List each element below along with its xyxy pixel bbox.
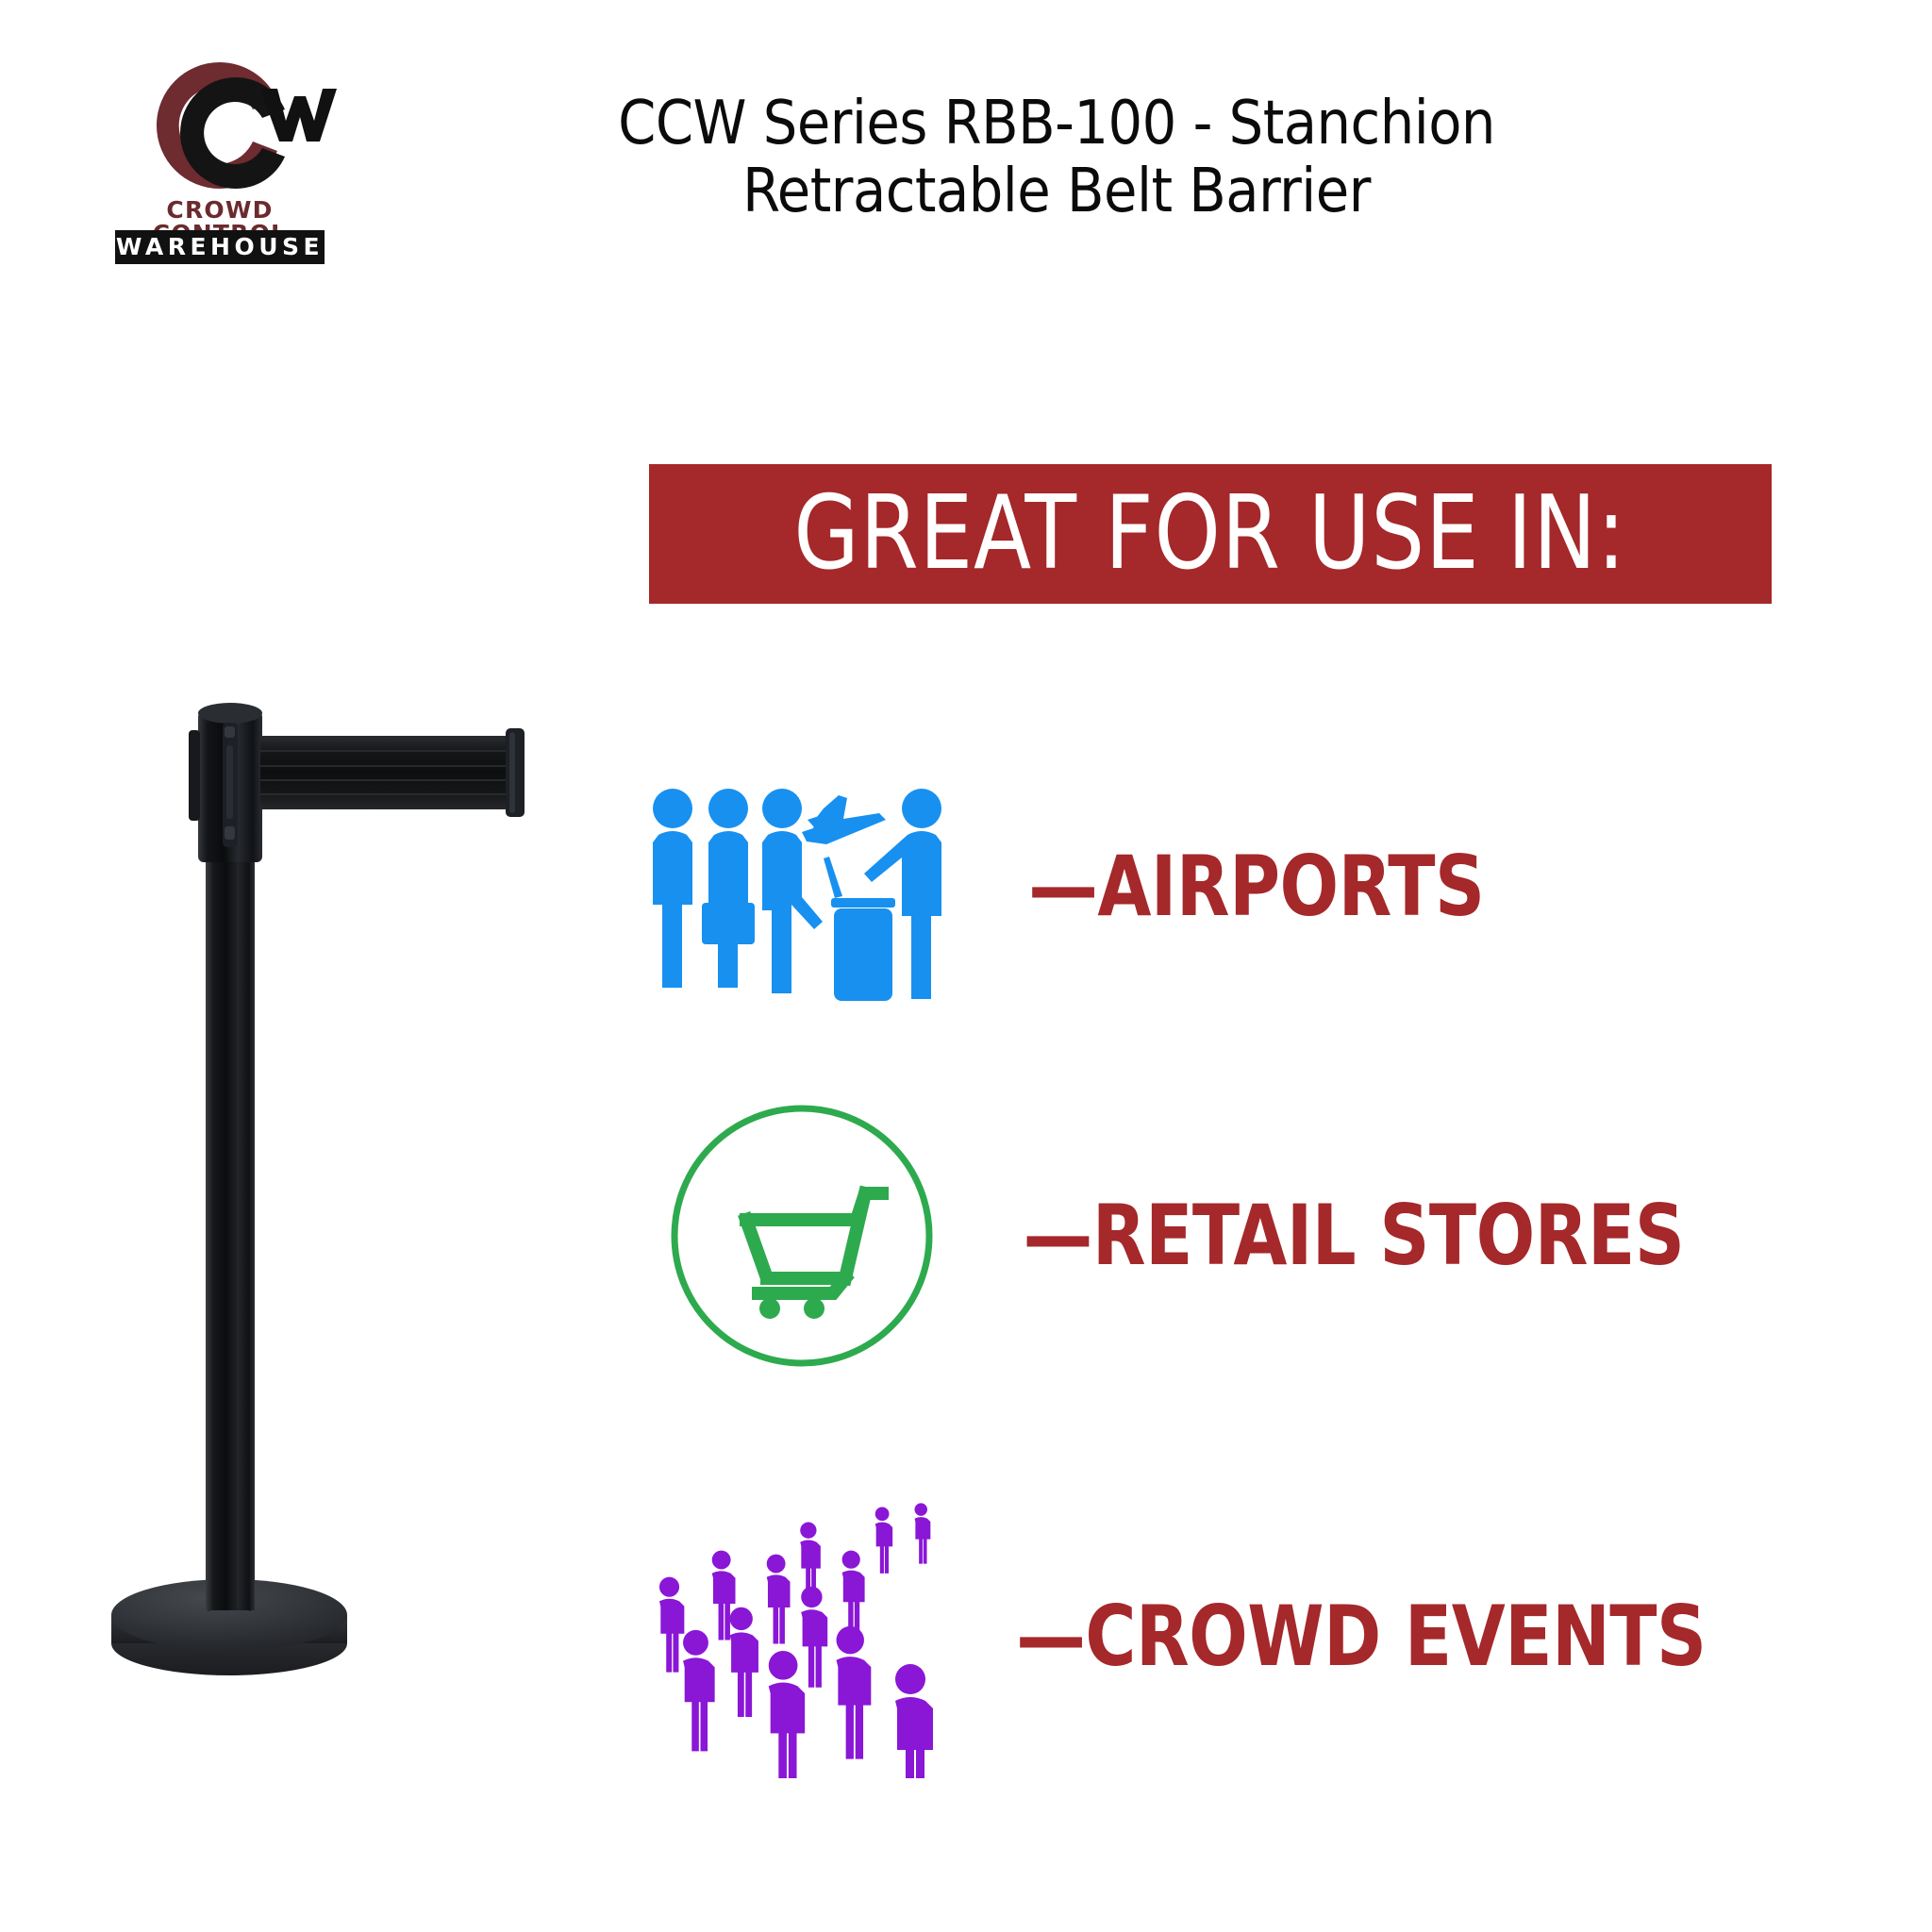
great-for-use-in-banner: GREAT FOR USE IN:: [649, 464, 1772, 604]
feature-label-airports: —AIRPORTS: [981, 845, 1815, 928]
feature-label-crowd-events: —CROWD EVENTS: [981, 1595, 1815, 1678]
logo-warehouse-bar: WAREHOUSE: [115, 230, 325, 264]
product-image: [104, 689, 594, 1698]
logo-name-line2: WAREHOUSE: [115, 230, 325, 264]
airport-queue-icon: [623, 763, 981, 1010]
feature-label-retail-stores: —RETAIL STORES: [981, 1194, 1815, 1277]
page-title-line1: CCW Series RBB-100 - Stanchion: [453, 91, 1660, 158]
brand-logo[interactable]: CROWD CONTROL WAREHOUSE: [102, 55, 338, 272]
feature-row-retail-stores: —RETAIL STORES: [623, 1094, 1877, 1377]
feature-row-crowd-events: —CROWD EVENTS: [623, 1481, 1877, 1792]
cw-monogram-icon: [102, 55, 338, 196]
page-title: CCW Series RBB-100 - Stanchion Retractab…: [453, 91, 1660, 225]
crowd-people-icon: [623, 1495, 981, 1778]
infographic-page: CROWD CONTROL WAREHOUSE CCW Series RBB-1…: [0, 0, 1932, 1932]
page-header: CROWD CONTROL WAREHOUSE CCW Series RBB-1…: [0, 0, 1932, 302]
page-title-line2: Retractable Belt Barrier: [453, 158, 1660, 226]
shopping-cart-icon: [623, 1099, 981, 1373]
feature-row-airports: —AIRPORTS: [623, 745, 1877, 1028]
banner-label: GREAT FOR USE IN:: [794, 483, 1627, 585]
